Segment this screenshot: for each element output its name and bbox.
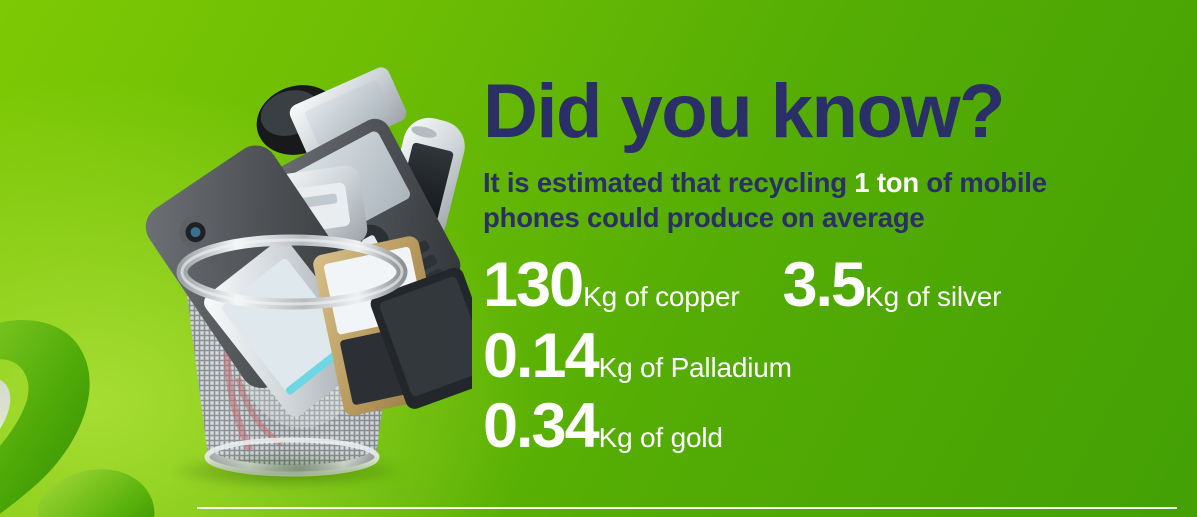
text-content: Did you know? It is estimated that recyc… <box>483 74 1123 459</box>
stat-copper-unit: Kg of copper <box>583 281 739 313</box>
page-title: Did you know? <box>483 74 1123 150</box>
stat-row-copper-silver: 130 Kg of copper 3.5 Kg of silver <box>483 248 1123 322</box>
phones-in-bin-image <box>112 58 472 490</box>
stat-palladium-value: 0.14 <box>483 319 598 393</box>
bin-illustration <box>112 58 472 490</box>
bottom-divider <box>197 507 1177 509</box>
subheading-highlight: 1 ton <box>854 167 919 198</box>
stat-silver-value: 3.5 <box>783 248 865 322</box>
stat-copper-value: 130 <box>483 248 582 322</box>
infographic-banner: Did you know? It is estimated that recyc… <box>0 0 1197 517</box>
stats-list: 130 Kg of copper 3.5 Kg of silver 0.14 K… <box>483 248 1123 463</box>
stat-copper: 130 Kg of copper <box>483 248 740 322</box>
bin-shadow <box>174 454 402 488</box>
stat-gold-unit: Kg of gold <box>599 422 723 454</box>
stat-silver: 3.5 Kg of silver <box>783 248 1002 322</box>
stat-row-gold: 0.34 Kg of gold <box>483 389 1123 463</box>
subheading: It is estimated that recycling 1 ton of … <box>483 166 1108 235</box>
stat-gold-value: 0.34 <box>483 389 598 463</box>
stat-silver-unit: Kg of silver <box>865 281 1001 313</box>
stat-palladium-unit: Kg of Palladium <box>599 352 792 384</box>
stat-palladium: 0.14 Kg of Palladium <box>483 319 792 393</box>
stat-gold: 0.34 Kg of gold <box>483 389 723 463</box>
subheading-before: It is estimated that recycling <box>483 167 854 198</box>
stat-row-palladium: 0.14 Kg of Palladium <box>483 319 1123 393</box>
